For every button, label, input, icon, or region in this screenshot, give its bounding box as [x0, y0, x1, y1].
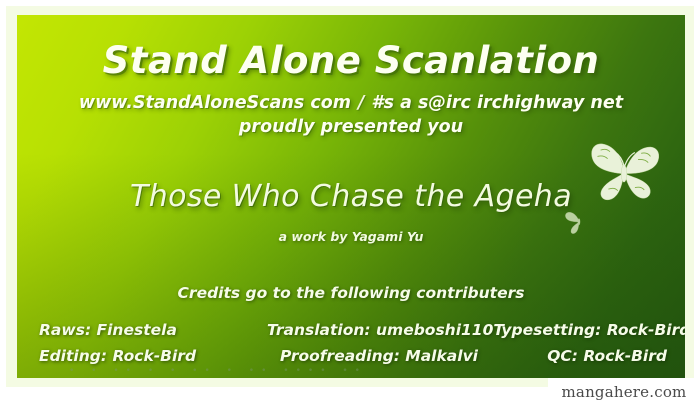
credits-row: Raws: Finestela Translation: umeboshi110…	[39, 321, 667, 347]
page-frame: Stand Alone Scanlation www.StandAloneSca…	[6, 6, 694, 387]
cutoff-text-row: • • •• • • •• • •• •••• ••	[69, 366, 489, 377]
irc-channel: #s a s@irc irchighway net	[371, 93, 623, 113]
credit-proofreading: Proofreading: Malkalvi	[267, 347, 491, 365]
watermark-mangahere: mangahere.com	[548, 378, 700, 406]
work-title: Those Who Chase the Ageha	[17, 179, 685, 214]
credit-typesetting: Typesetting: Rock-Bird	[493, 321, 685, 339]
url-separator: /	[351, 93, 371, 113]
work-author: a work by Yagami Yu	[17, 229, 685, 244]
site-url-line: www.StandAloneScans com/#s a s@irc irchi…	[17, 93, 685, 113]
website-url: www.StandAloneScans com	[79, 93, 351, 113]
presented-by-line: proudly presented you	[17, 117, 685, 137]
watermark-label: mangahere.com	[562, 383, 687, 401]
group-title: Stand Alone Scanlation	[17, 39, 685, 82]
credit-editing: Editing: Rock-Bird	[39, 347, 267, 365]
gradient-panel: Stand Alone Scanlation www.StandAloneSca…	[17, 15, 685, 378]
credit-translation: Translation: umeboshi110	[267, 321, 493, 339]
scanlation-credits-page: Stand Alone Scanlation www.StandAloneSca…	[0, 0, 700, 406]
credits-heading: Credits go to the following contributers	[17, 284, 685, 302]
credit-raws: Raws: Finestela	[39, 321, 267, 339]
credit-qc: QC: Rock-Bird	[491, 347, 667, 365]
